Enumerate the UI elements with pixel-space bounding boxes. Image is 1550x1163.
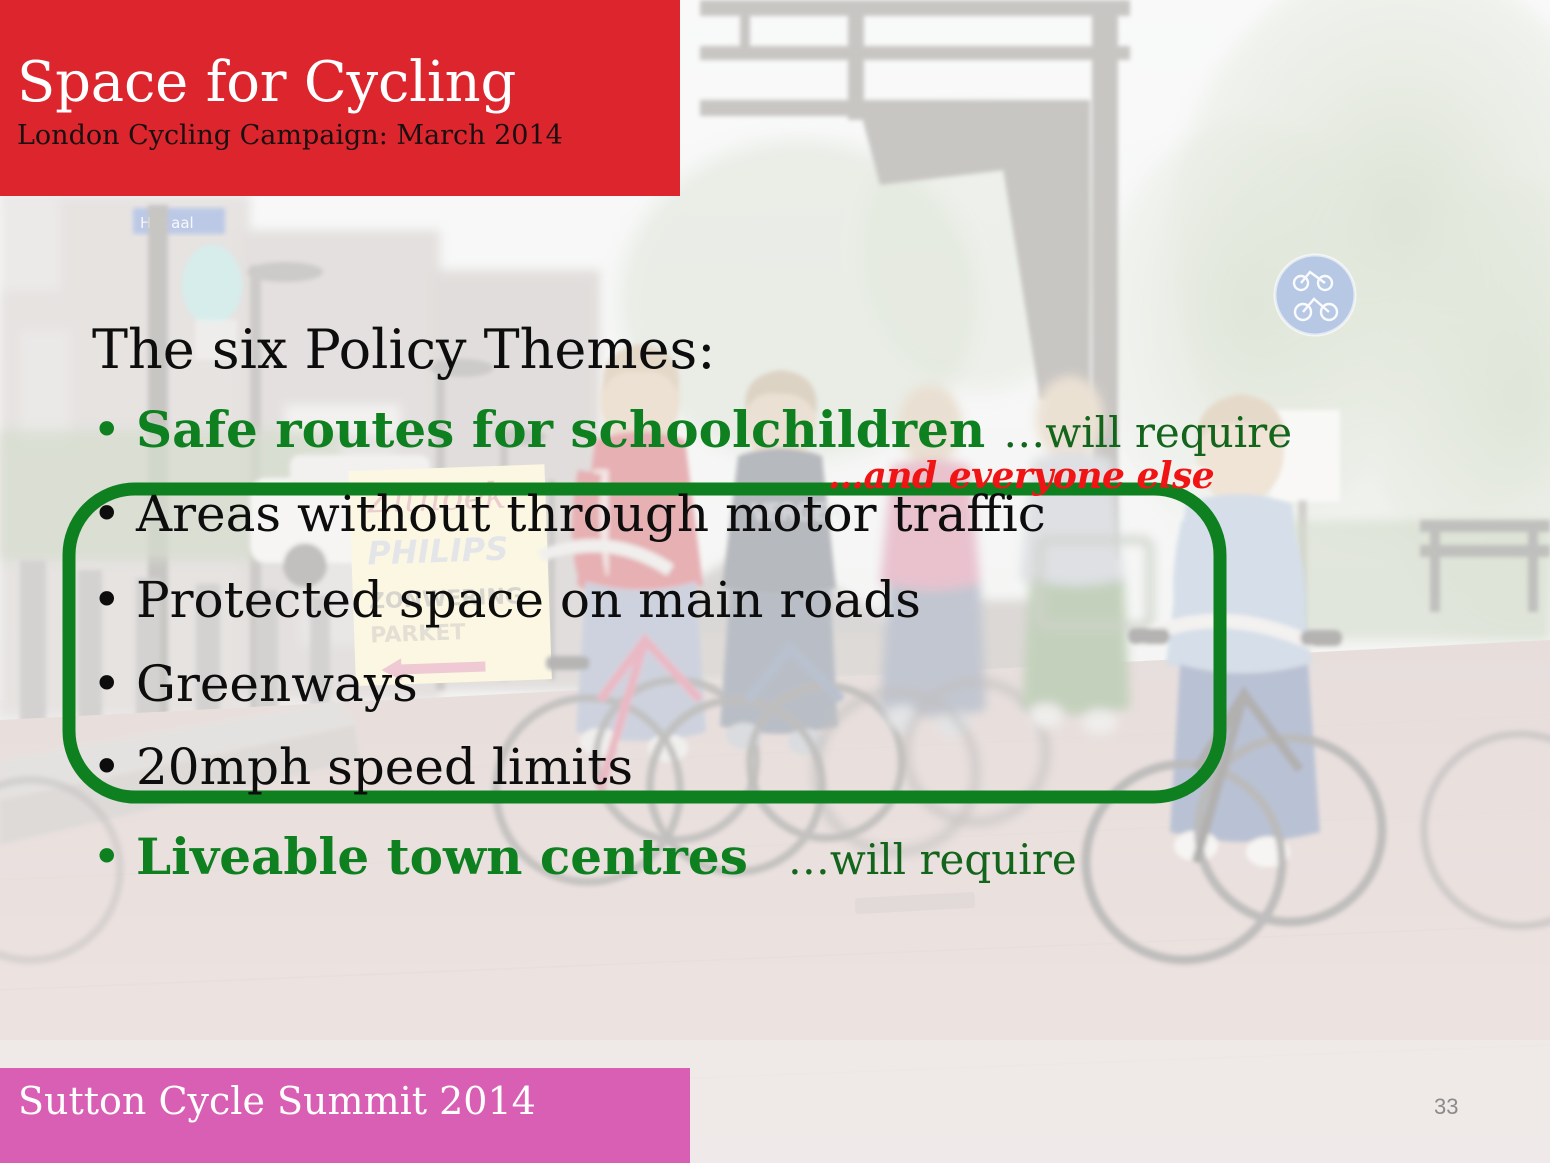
- bullet-marker-icon: •: [92, 489, 136, 539]
- bullet-marker-icon: •: [92, 405, 136, 455]
- list-item-label: Greenways: [136, 659, 418, 709]
- page-number: 33: [1434, 1094, 1458, 1120]
- slide-title: Space for Cycling: [17, 55, 516, 111]
- list-item: • Protected space on main roads: [92, 575, 921, 625]
- list-item: • Safe routes for schoolchildren …will r…: [92, 405, 1292, 457]
- list-item: • Greenways: [92, 659, 418, 709]
- page-title: The six Policy Themes:: [92, 318, 715, 381]
- footer-label: Sutton Cycle Summit 2014: [18, 1079, 536, 1123]
- bullet-marker-icon: •: [92, 742, 136, 792]
- list-item-label: Liveable town centres: [136, 832, 748, 882]
- list-item-trailing-note: …will require: [788, 835, 1077, 884]
- list-item-trailing-note: …will require: [1003, 408, 1292, 457]
- list-item-label: Protected space on main roads: [136, 575, 921, 625]
- slide-subtitle: London Cycling Campaign: March 2014: [17, 120, 563, 151]
- presentation-slide: Het aal: [0, 0, 1550, 1163]
- overlay-annotation: …and everyone else: [828, 455, 1214, 497]
- bullet-marker-icon: •: [92, 659, 136, 709]
- bullet-marker-icon: •: [92, 832, 136, 882]
- bullet-marker-icon: •: [92, 575, 136, 625]
- list-item: • 20mph speed limits: [92, 742, 633, 792]
- list-item-label: 20mph speed limits: [136, 742, 633, 792]
- list-item: • Liveable town centres …will require: [92, 832, 1077, 884]
- list-item-label: Safe routes for schoolchildren: [136, 405, 985, 455]
